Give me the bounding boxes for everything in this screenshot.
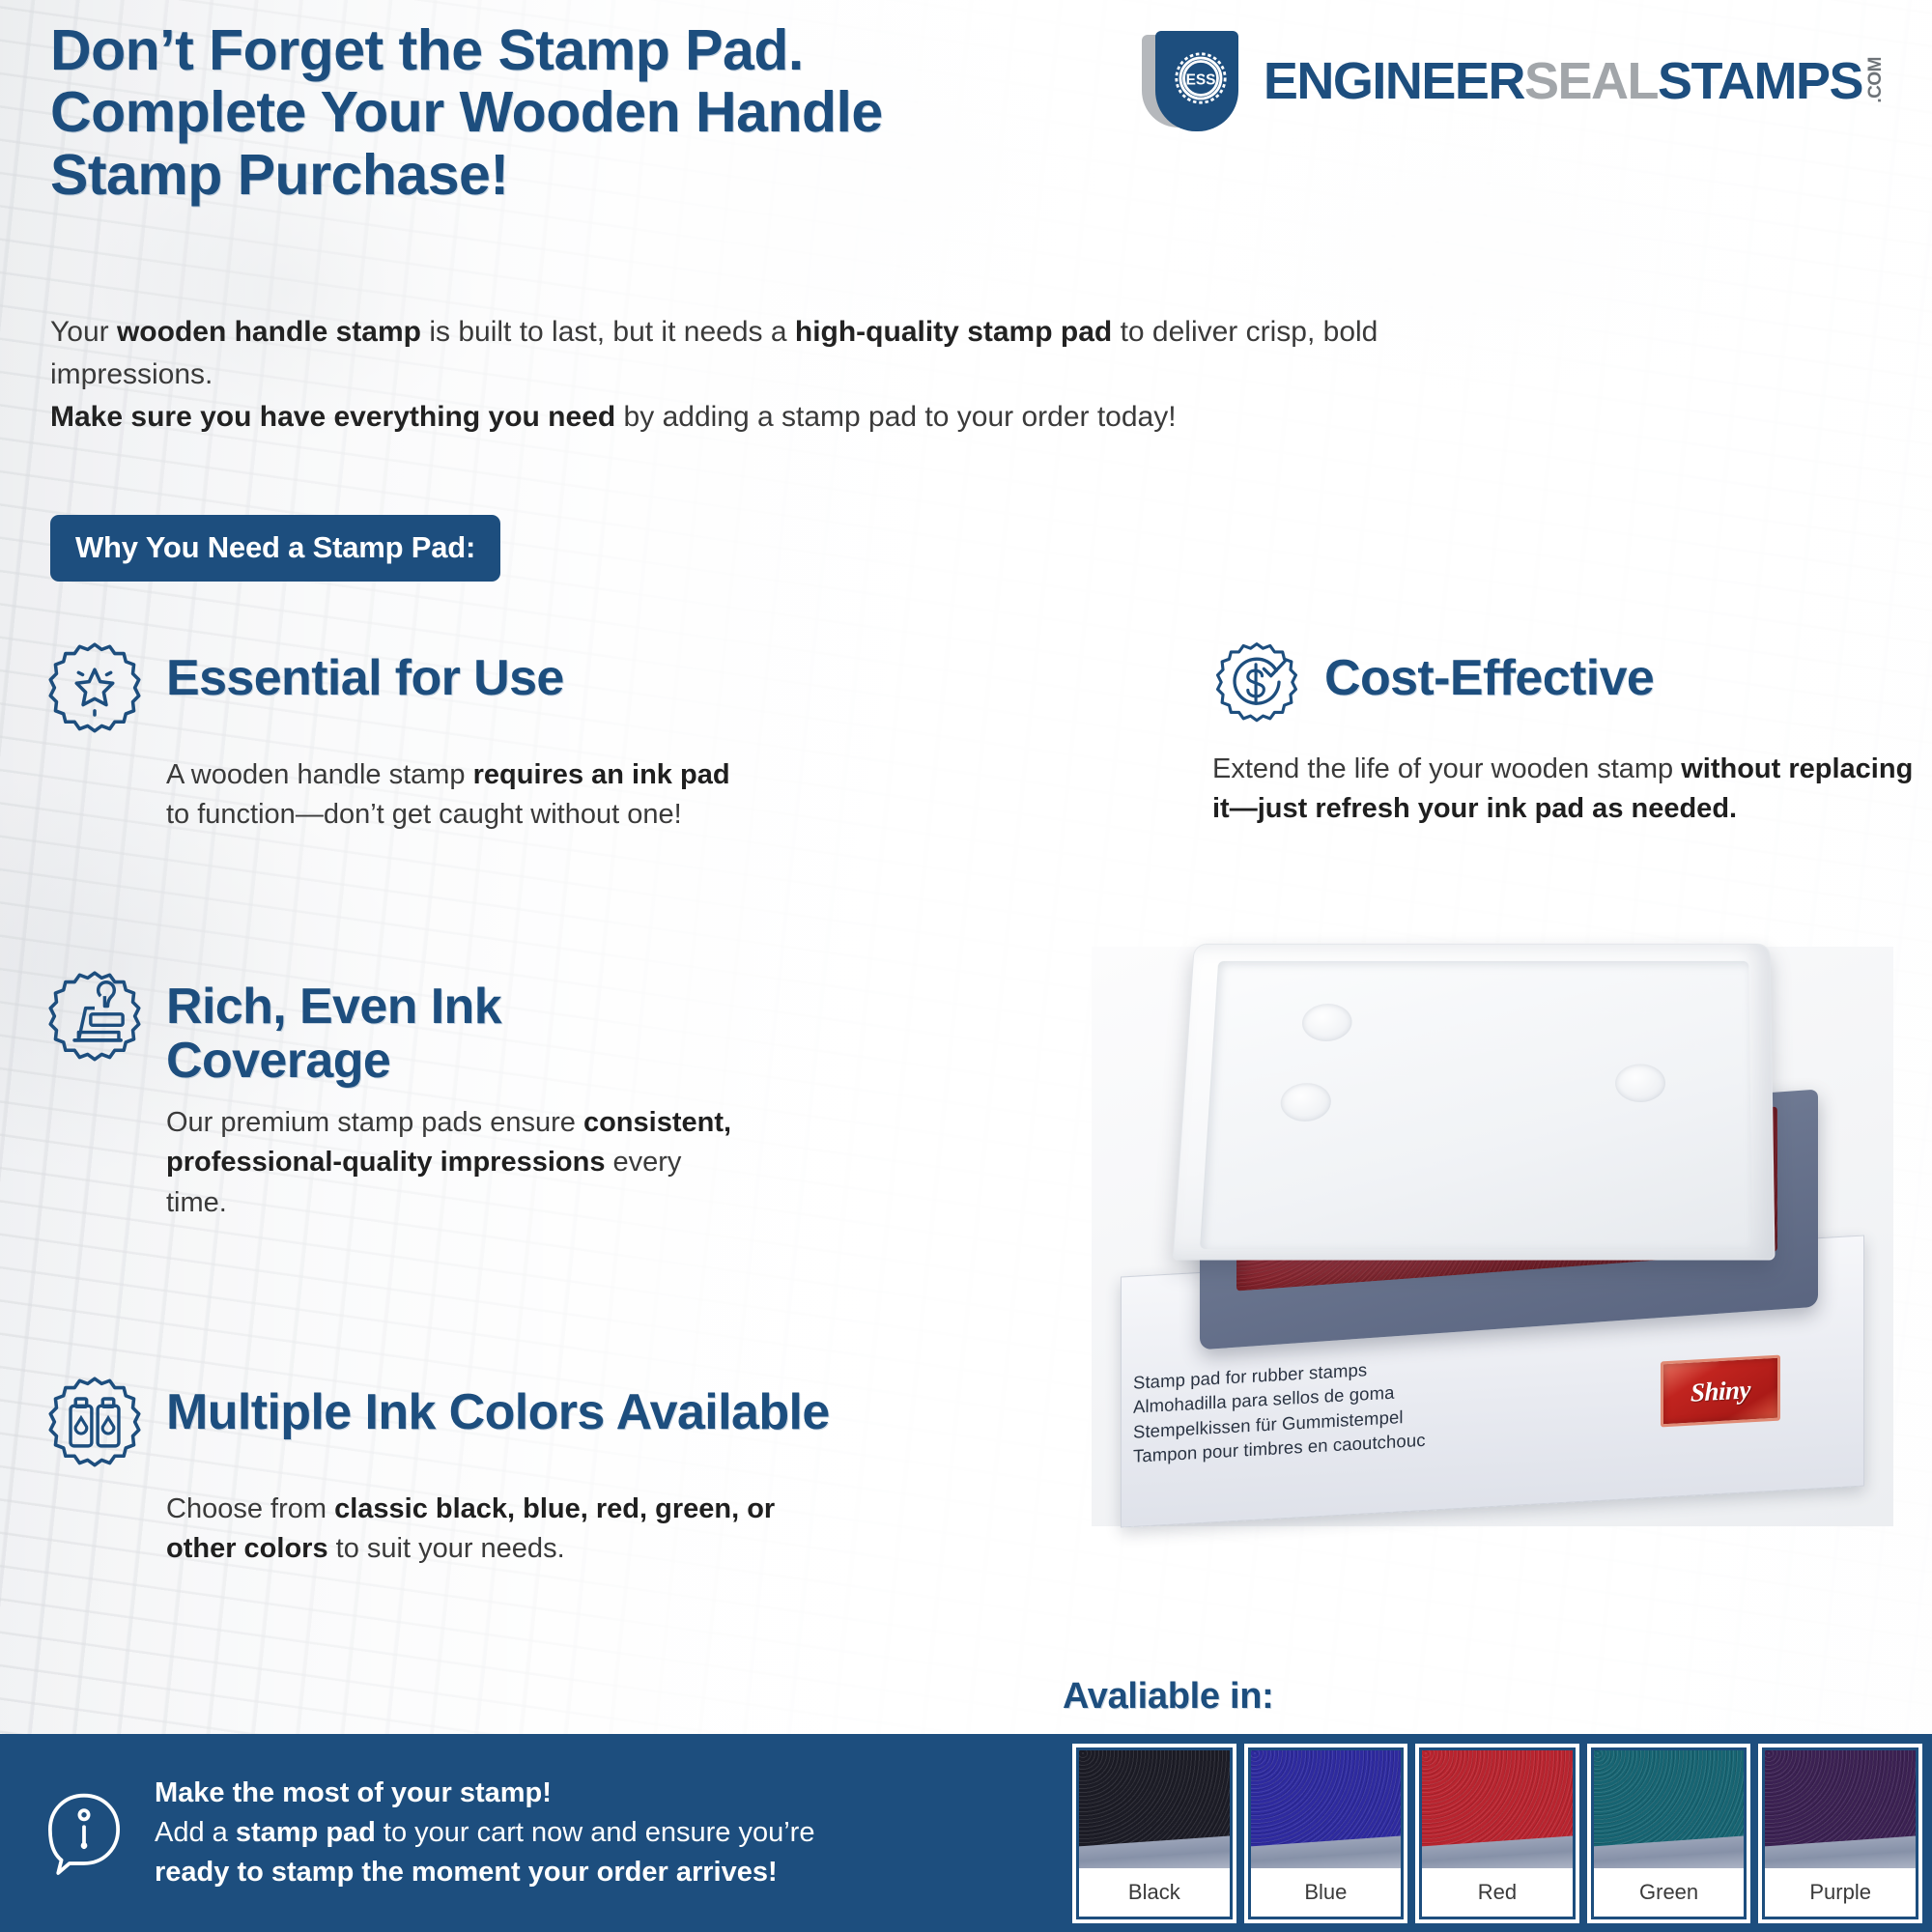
page-title-line-1: Don’t Forget the Stamp Pad. xyxy=(50,19,1026,81)
shiny-brand-name: Shiny xyxy=(1690,1375,1750,1407)
swatch-color-black xyxy=(1079,1750,1230,1868)
swatch-color-purple xyxy=(1765,1750,1916,1868)
feature-body-cost: Extend the life of your wooden stamp wit… xyxy=(1212,750,1932,829)
available-in-title: Avaliable in: xyxy=(1063,1676,1274,1718)
footer-text: Make the most of your stamp! Add a stamp… xyxy=(155,1774,814,1893)
intro-bold-2: high-quality stamp pad xyxy=(795,316,1112,348)
infographic-page: Don’t Forget the Stamp Pad. Complete You… xyxy=(0,0,1932,1932)
feature-title-colors: Multiple Ink Colors Available xyxy=(166,1372,830,1439)
feature-multiple-ink-colors: Multiple Ink Colors Available Choose fro… xyxy=(44,1372,856,1569)
footer-bold-1: stamp pad xyxy=(236,1817,376,1848)
logo-word-seal: SEAL xyxy=(1524,55,1658,107)
info-bubble-icon xyxy=(43,1789,126,1878)
feature-title-rich: Rich, Even Ink Coverage xyxy=(166,966,707,1088)
logo-word-engineer: ENGINEER xyxy=(1264,55,1524,107)
brand-logo[interactable]: ESS ENGINEER SEAL STAMPS .COM xyxy=(1142,31,1887,131)
rich-text-1: Our premium stamp pads ensure xyxy=(166,1107,583,1138)
footer-text-2: to your cart now and ensure you’re xyxy=(376,1817,815,1848)
feature-essential-for-use: Essential for Use A wooden handle stamp … xyxy=(44,638,759,835)
swatch-blue[interactable]: Blue xyxy=(1244,1744,1408,1923)
feature-body-essential: A wooden handle stamp requires an ink pa… xyxy=(166,755,755,835)
footer-line-1: Make the most of your stamp! xyxy=(155,1774,814,1813)
feature-title-essential: Essential for Use xyxy=(166,638,564,705)
badge-dollar-check-icon xyxy=(1212,639,1301,728)
colors-text-2: to suit your needs. xyxy=(328,1533,565,1564)
gear-icon: ESS xyxy=(1167,44,1235,112)
intro-text-4: by adding a stamp pad to your order toda… xyxy=(615,401,1176,433)
footer-line-3: ready to stamp the moment your order arr… xyxy=(155,1857,778,1888)
footer-callout: Make the most of your stamp! Add a stamp… xyxy=(0,1734,1063,1932)
stamp-pad-lid xyxy=(1173,944,1776,1261)
page-title: Don’t Forget the Stamp Pad. Complete You… xyxy=(50,19,1026,206)
swatch-color-red xyxy=(1422,1750,1573,1868)
feature-body-rich: Our premium stamp pads ensure consistent… xyxy=(166,1103,736,1223)
feature-cost-effective: Cost-Effective Extend the life of your w… xyxy=(1212,638,1932,829)
swatch-label-black: Black xyxy=(1079,1868,1230,1917)
swatch-black[interactable]: Black xyxy=(1072,1744,1236,1923)
swatch-label-purple: Purple xyxy=(1765,1868,1916,1917)
logo-tld: .COM xyxy=(1865,57,1887,103)
why-you-need-badge: Why You Need a Stamp Pad: xyxy=(50,515,500,582)
logo-wordmark: ENGINEER SEAL STAMPS .COM xyxy=(1264,55,1887,107)
intro-bold-3: Make sure you have everything you need xyxy=(50,401,615,433)
logo-word-stamps: STAMPS xyxy=(1658,55,1862,107)
essential-bold-1: requires an ink pad xyxy=(473,759,730,790)
color-swatch-strip: Black Blue Red Green Purple xyxy=(1063,1734,1932,1932)
page-title-line-3: Stamp Purchase! xyxy=(50,144,1026,206)
ess-monogram: ESS xyxy=(1185,71,1215,88)
lid-dimple-left xyxy=(1280,1083,1332,1122)
lid-dimple-top xyxy=(1301,1004,1352,1041)
essential-text-1: A wooden handle stamp xyxy=(166,759,473,790)
footer-text-1: Add a xyxy=(155,1817,236,1848)
intro-text-2: is built to last, but it needs a xyxy=(421,316,795,348)
swatch-purple[interactable]: Purple xyxy=(1758,1744,1922,1923)
footer-line-2: Add a stamp pad to your cart now and ens… xyxy=(155,1813,814,1853)
badge-stamp-icon xyxy=(44,968,145,1068)
colors-text-1: Choose from xyxy=(166,1493,334,1524)
feature-title-cost: Cost-Effective xyxy=(1324,638,1654,705)
swatch-green[interactable]: Green xyxy=(1587,1744,1751,1923)
ess-shield-icon: ESS xyxy=(1142,31,1254,131)
intro-text-1: Your xyxy=(50,316,117,348)
feature-rich-even-ink-coverage: Rich, Even Ink Coverage Our premium stam… xyxy=(44,966,779,1223)
header: Don’t Forget the Stamp Pad. Complete You… xyxy=(50,19,1886,206)
swatch-label-red: Red xyxy=(1422,1868,1573,1917)
swatch-color-green xyxy=(1594,1750,1745,1868)
cost-text-1: Extend the life of your wooden stamp xyxy=(1212,753,1681,784)
essential-text-2: to function—don’t get caught without one… xyxy=(166,799,682,830)
badge-star-icon xyxy=(44,639,145,740)
swatch-color-blue xyxy=(1251,1750,1402,1868)
intro-bold-1: wooden handle stamp xyxy=(117,316,421,348)
intro-paragraph: Your wooden handle stamp is built to las… xyxy=(50,311,1403,438)
swatch-label-blue: Blue xyxy=(1251,1868,1402,1917)
swatch-label-green: Green xyxy=(1594,1868,1745,1917)
shiny-brand-logo: Shiny xyxy=(1661,1355,1780,1428)
badge-ink-bottles-icon xyxy=(44,1374,145,1474)
swatch-red[interactable]: Red xyxy=(1415,1744,1579,1923)
feature-body-colors: Choose from classic black, blue, red, gr… xyxy=(166,1490,833,1569)
page-title-line-2: Complete Your Wooden Handle xyxy=(50,81,1026,143)
lid-dimple-right xyxy=(1615,1064,1665,1102)
